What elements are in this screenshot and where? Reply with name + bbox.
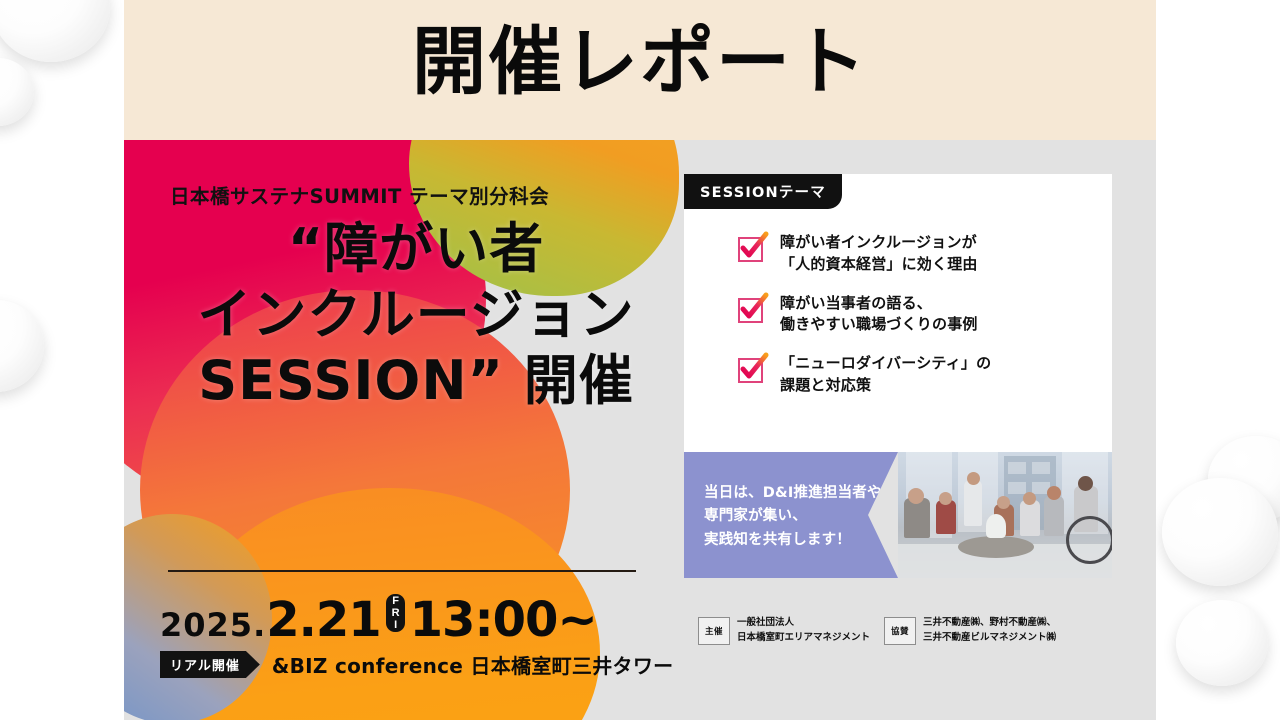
theme-text: 障がい者インクルージョンが 「人的資本経営」に効く理由 [780, 232, 978, 276]
sponsor-names: 三井不動産㈱、野村不動産㈱、 三井不動産ビルマネジメント㈱ [923, 616, 1056, 645]
poster-venue: リアル開催 &BIZ conference 日本橋室町三井タワー [160, 650, 673, 679]
sponsor-line-2: 日本橋室町エリアマネジメント [737, 632, 870, 643]
decorative-bubble-mid-left [0, 58, 34, 126]
info-banner: 当日は、D&I推進担当者や 専門家が集い、 実践知を共有します！ [684, 452, 1112, 578]
page-title: 開催レポート [124, 18, 1156, 107]
sponsor-organizer: 主催 一般社団法人 日本橋室町エリアマネジメント [698, 616, 870, 645]
banner-text: 当日は、D&I推進担当者や 専門家が集い、 実践知を共有します！ [704, 482, 882, 552]
checkbox-checked-icon [738, 295, 766, 323]
theme-text: 「ニューロダイバーシティ」の 課題と対応策 [780, 353, 991, 397]
poster-headline: “障がい者 インクルージョン SESSION” 開催 [152, 216, 680, 414]
headline-line-1: “障がい者 [152, 216, 680, 282]
sponsor-strip: 主催 一般社団法人 日本橋室町エリアマネジメント 協賛 三井不動産㈱、野村不動産… [684, 598, 1112, 664]
theme-text: 障がい当事者の語る、 働きやすい職場づくりの事例 [780, 293, 978, 337]
poster-datetime: 2025. 2.21 FRI 13:00~ [160, 592, 680, 648]
venue-name: &BIZ conference 日本橋室町三井タワー [272, 650, 674, 679]
list-item: 障がい当事者の語る、 働きやすい職場づくりの事例 [738, 293, 1098, 337]
slide-canvas: 開催レポート 日本橋サステナSUMMIT テーマ別分科会 “障がい者 インクルー… [124, 0, 1156, 720]
poster-divider [168, 570, 636, 572]
sponsor-names: 一般社団法人 日本橋室町エリアマネジメント [737, 616, 870, 645]
date-time: 13:00~ [410, 592, 597, 648]
headline-line-2: インクルージョン [152, 282, 680, 348]
headline-line-3: SESSION” 開催 [152, 348, 680, 414]
banner-line-1: 当日は、D&I推進担当者や [704, 485, 882, 501]
sponsor-line-1: 一般社団法人 [737, 617, 794, 628]
theme-line-2: 働きやすい職場づくりの事例 [780, 315, 978, 333]
meeting-photo [898, 452, 1112, 578]
list-item: 障がい者インクルージョンが 「人的資本経営」に効く理由 [738, 232, 1098, 276]
weekday-badge: FRI [386, 594, 405, 632]
theme-line-2: 課題と対応策 [780, 376, 871, 394]
title-band: 開催レポート [124, 0, 1156, 140]
session-theme-card: SESSIONテーマ 障がい者インクルージョンが 「人的資本経営」に効く理由 [684, 174, 1112, 452]
checkbox-checked-icon [738, 355, 766, 383]
list-item: 「ニューロダイバーシティ」の 課題と対応策 [738, 353, 1098, 397]
sponsor-line-2: 三井不動産ビルマネジメント㈱ [923, 632, 1056, 643]
banner-text-panel: 当日は、D&I推進担当者や 専門家が集い、 実践知を共有します！ [684, 452, 898, 578]
date-year: 2025. [160, 606, 266, 644]
sponsor-role-chip: 協賛 [884, 617, 916, 645]
checkbox-checked-icon [738, 234, 766, 262]
date-day: 2.21 [266, 592, 380, 648]
poster-kicker: 日本橋サステナSUMMIT テーマ別分科会 [170, 180, 670, 209]
session-theme-list: 障がい者インクルージョンが 「人的資本経営」に効く理由 障がい当事者の語る、 働… [738, 232, 1098, 414]
decorative-bubble-top-left [0, 0, 110, 62]
decorative-bubble-right-lower [1176, 600, 1268, 686]
theme-line-1: 「ニューロダイバーシティ」の [780, 354, 991, 372]
decorative-bubble-bottom-left [0, 300, 44, 392]
theme-line-1: 障がい者インクルージョンが [780, 233, 977, 251]
banner-line-2: 専門家が集い、 [704, 508, 807, 524]
session-theme-badge: SESSIONテーマ [684, 174, 842, 209]
sponsor-role-chip: 主催 [698, 617, 730, 645]
decorative-bubble-right-mid [1162, 478, 1278, 586]
sponsor-supporters: 協賛 三井不動産㈱、野村不動産㈱、 三井不動産ビルマネジメント㈱ [884, 616, 1056, 645]
sponsor-line-1: 三井不動産㈱、野村不動産㈱、 [923, 617, 1056, 628]
banner-line-3: 実践知を共有します！ [704, 532, 851, 548]
event-poster: 日本橋サステナSUMMIT テーマ別分科会 “障がい者 インクルージョン SES… [124, 140, 684, 720]
theme-line-2: 「人的資本経営」に効く理由 [780, 255, 978, 273]
theme-line-1: 障がい当事者の語る、 [780, 294, 932, 312]
venue-format-tag: リアル開催 [160, 651, 260, 678]
